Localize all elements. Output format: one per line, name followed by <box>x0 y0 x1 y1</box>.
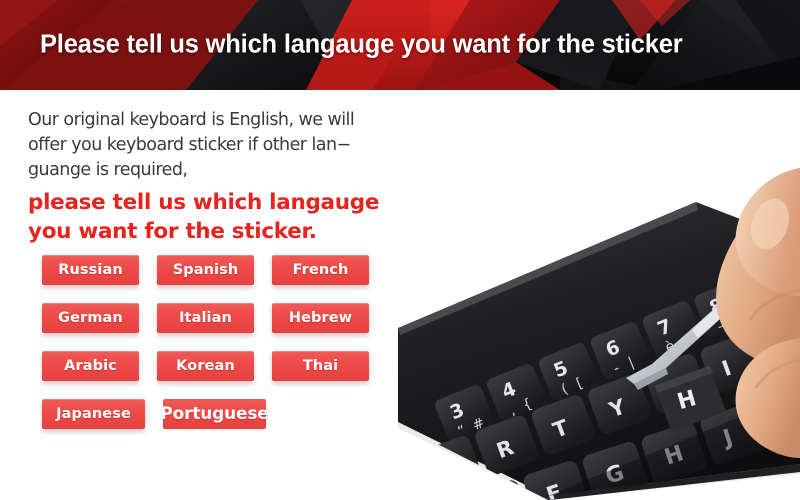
description-line-2: offer you keyboard sticker if other lan− <box>28 133 378 158</box>
language-button-label: French <box>293 262 349 278</box>
language-button-label: Russian <box>58 262 123 278</box>
description-line-3: guange is required, <box>28 158 378 183</box>
language-button-arabic[interactable]: Arabic <box>42 351 139 381</box>
language-button-korean[interactable]: Korean <box>157 351 254 381</box>
language-button-hebrew[interactable]: Hebrew <box>272 303 369 333</box>
language-row-3: Arabic Korean Thai <box>42 351 387 381</box>
language-button-label: Arabic <box>64 358 117 374</box>
language-button-german[interactable]: German <box>42 303 139 333</box>
language-button-french[interactable]: French <box>272 255 369 285</box>
language-button-russian[interactable]: Russian <box>42 255 139 285</box>
language-row-4: Japanese Portuguese <box>42 399 387 429</box>
language-button-label: German <box>58 310 123 326</box>
header-banner: Please tell us which langauge you want f… <box>0 0 800 90</box>
language-button-portuguese[interactable]: Portuguese <box>163 399 266 429</box>
language-button-spanish[interactable]: Spanish <box>157 255 254 285</box>
language-button-japanese[interactable]: Japanese <box>42 399 145 429</box>
keyboard-sticker-photo: 3 4 5 6 7 8 9 “ # , { ( [ <box>398 92 800 500</box>
language-row-2: German Italian Hebrew <box>42 303 387 333</box>
highlight-line-2: you want for the sticker. <box>28 217 378 246</box>
highlight-block: please tell us which langauge you want f… <box>28 188 378 246</box>
keyboard-sticker-illustration: 3 4 5 6 7 8 9 “ # , { ( [ <box>398 92 800 500</box>
language-button-thai[interactable]: Thai <box>272 351 369 381</box>
description-block: Our original keyboard is English, we wil… <box>28 108 378 246</box>
highlight-line-1: please tell us which langauge <box>28 188 378 217</box>
language-button-label: Hebrew <box>289 310 352 326</box>
language-button-label: Korean <box>176 358 235 374</box>
language-button-label: Portuguese <box>160 404 268 424</box>
description-line-1: Our original keyboard is English, we wil… <box>28 108 378 133</box>
language-button-italian[interactable]: Italian <box>157 303 254 333</box>
language-button-grid: Russian Spanish French German Italian He… <box>42 255 387 447</box>
language-button-label: Spanish <box>173 262 239 278</box>
language-row-1: Russian Spanish French <box>42 255 387 285</box>
page-title: Please tell us which langauge you want f… <box>40 31 682 60</box>
language-button-label: Thai <box>303 358 338 374</box>
promo-banner-page: Please tell us which langauge you want f… <box>0 0 800 500</box>
language-button-label: Italian <box>179 310 232 326</box>
language-button-label: Japanese <box>56 406 131 422</box>
